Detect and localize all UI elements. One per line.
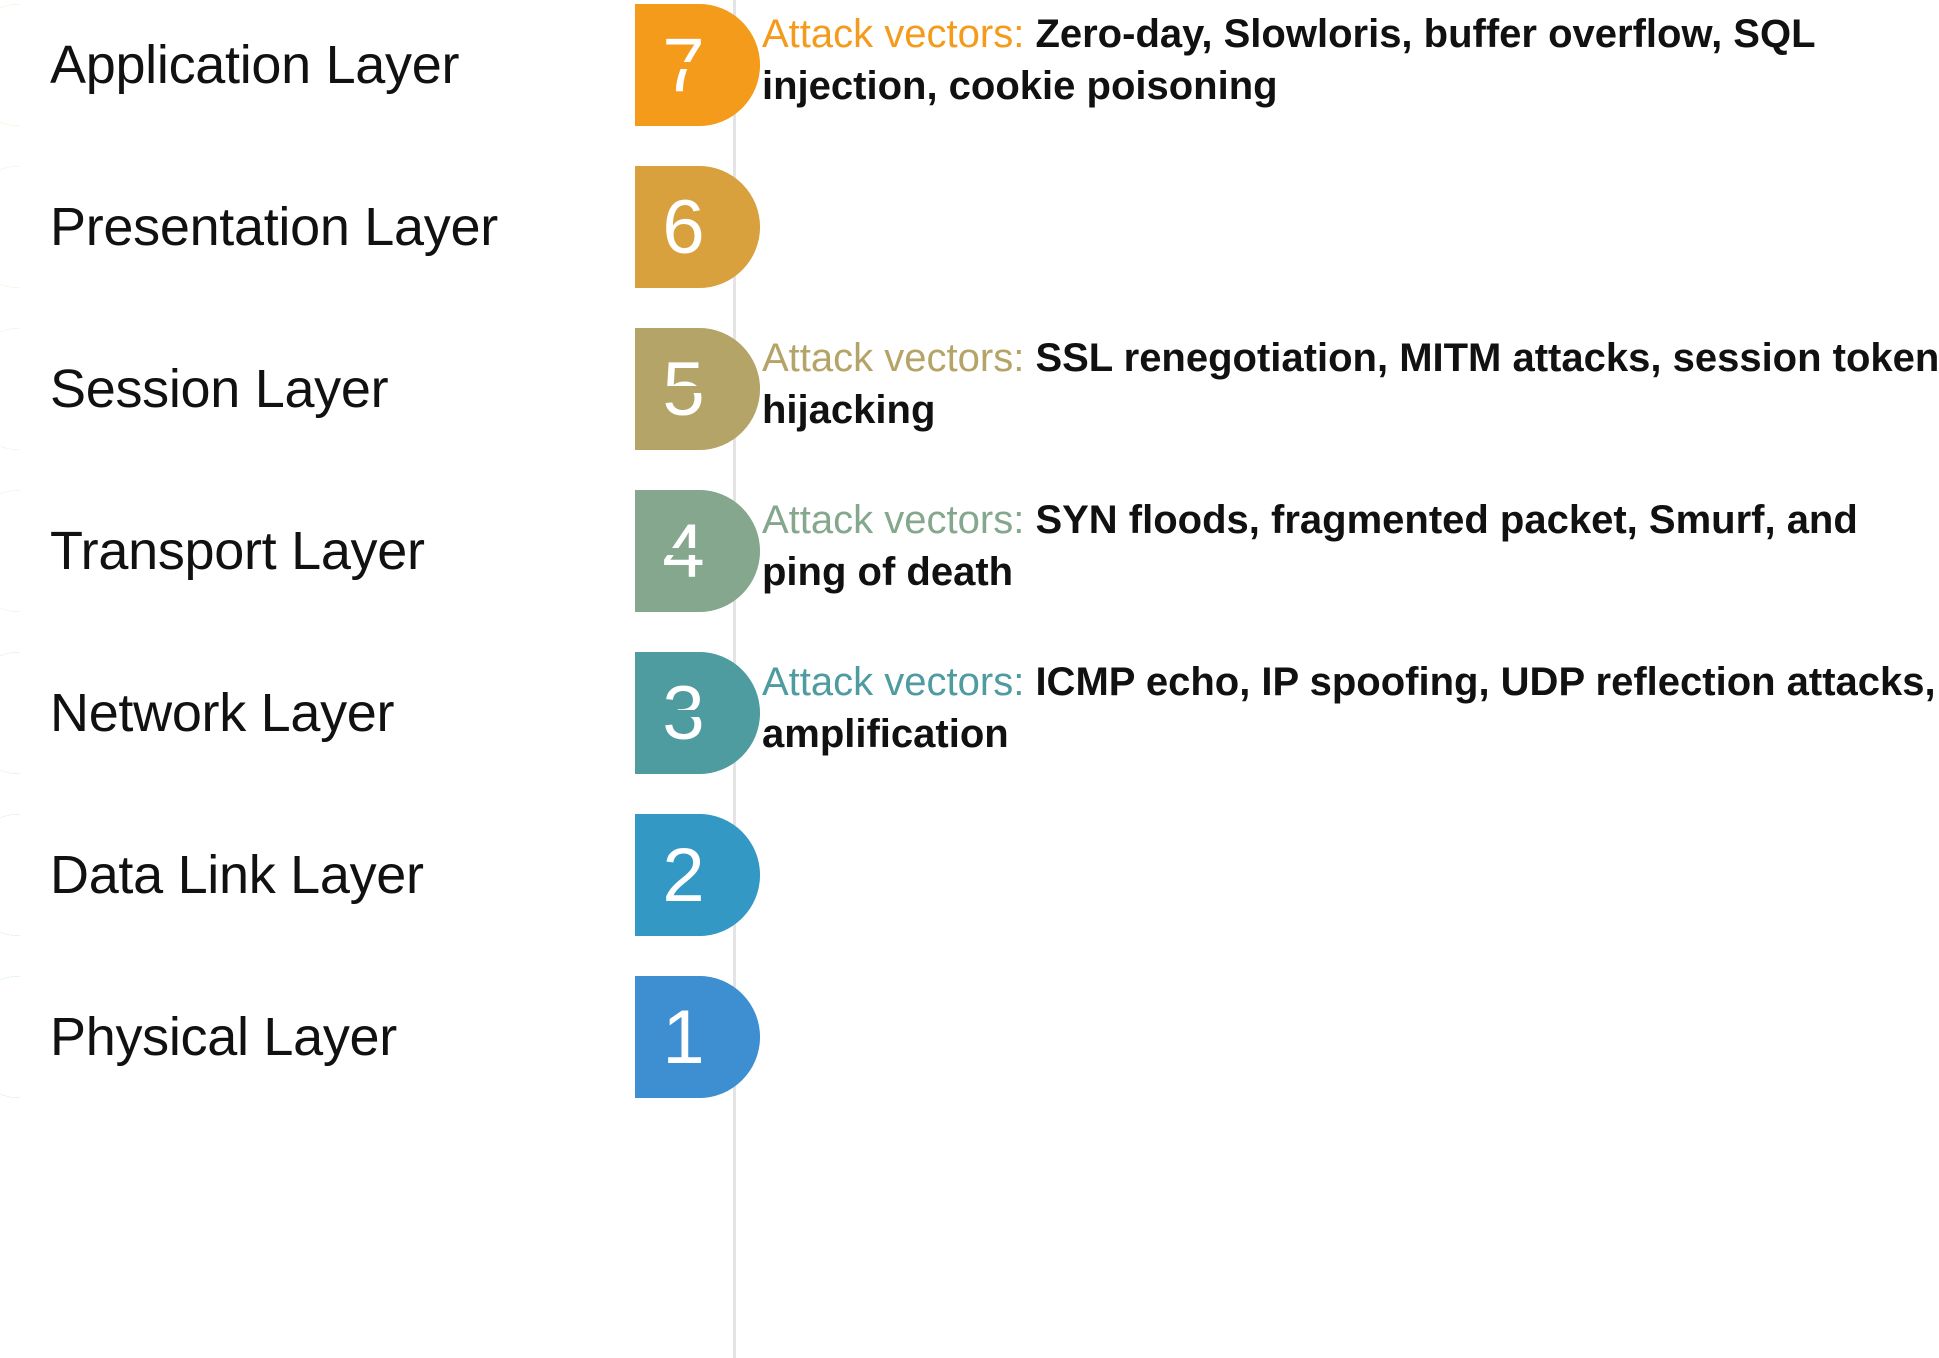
layer-pill-1[interactable]: Physical Layer1: [0, 976, 760, 1098]
connector-line-7: [646, 62, 728, 69]
layer-pill-6[interactable]: Presentation Layer6: [0, 166, 760, 288]
attack-vectors-label-4: Attack vectors:: [762, 498, 1024, 542]
layer-name-1: Physical Layer: [0, 976, 635, 1098]
attack-vectors-note-5: Attack vectors: SSL renegotiation, MITM …: [762, 332, 1939, 436]
attack-vectors-label-5: Attack vectors:: [762, 336, 1024, 380]
connector-5: [646, 378, 748, 400]
connector-dot-7: [724, 53, 748, 77]
connector-line-3: [646, 710, 728, 717]
connector-dot-5: [724, 377, 748, 401]
attack-vectors-note-7: Attack vectors: Zero-day, Slowloris, buf…: [762, 8, 1939, 112]
layer-name-5: Session Layer: [0, 328, 635, 450]
connector-line-4: [646, 548, 728, 555]
layer-number-badge-6: 6: [635, 166, 760, 288]
connector-3: [646, 702, 748, 724]
layer-name-2: Data Link Layer: [0, 814, 635, 936]
connector-dot-3: [724, 701, 748, 725]
layer-number-badge-2: 2: [635, 814, 760, 936]
connector-7: [646, 54, 748, 76]
layer-number-badge-1: 1: [635, 976, 760, 1098]
connector-line-5: [646, 386, 728, 393]
layer-name-7: Application Layer: [0, 4, 635, 126]
layer-name-4: Transport Layer: [0, 490, 635, 612]
connector-4: [646, 540, 748, 562]
layer-name-3: Network Layer: [0, 652, 635, 774]
connector-dot-4: [724, 539, 748, 563]
attack-vectors-label-3: Attack vectors:: [762, 660, 1024, 704]
attack-vectors-note-4: Attack vectors: SYN floods, fragmented p…: [762, 494, 1939, 598]
layer-pill-2[interactable]: Data Link Layer2: [0, 814, 760, 936]
attack-vectors-label-7: Attack vectors:: [762, 12, 1024, 56]
layer-name-6: Presentation Layer: [0, 166, 635, 288]
attack-vectors-note-3: Attack vectors: ICMP echo, IP spoofing, …: [762, 656, 1939, 760]
osi-layers-diagram: Application Layer7Presentation Layer6Ses…: [0, 0, 1939, 1358]
